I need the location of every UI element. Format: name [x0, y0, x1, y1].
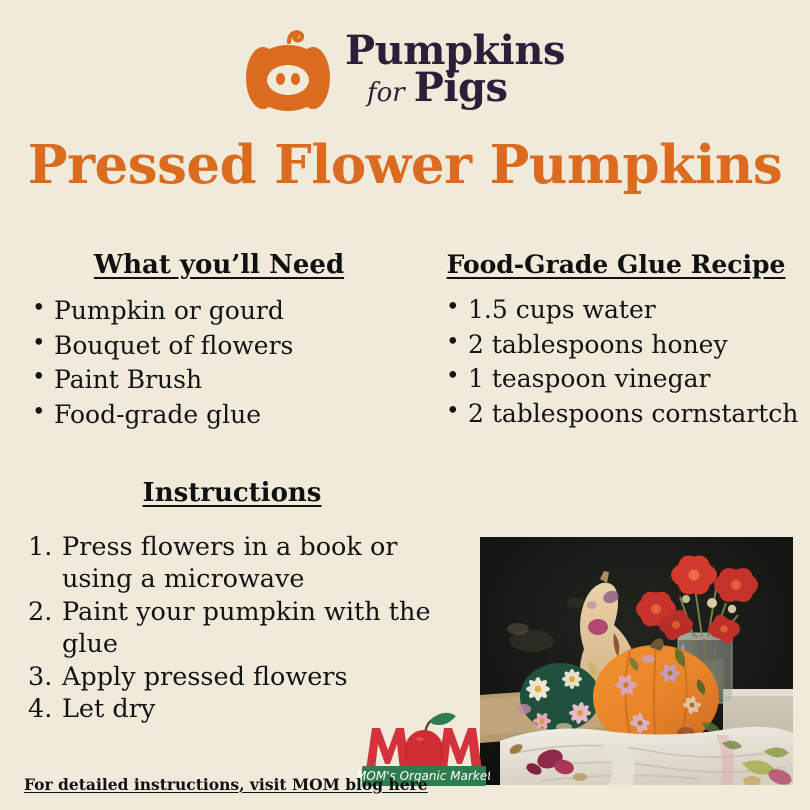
- step-text: Let dry: [62, 694, 155, 724]
- what-you-need-list: Pumpkin or gourd Bouquet of flowers Pain…: [18, 294, 420, 432]
- step-number: 3.: [28, 662, 60, 694]
- list-item: 2 tablespoons honey: [438, 328, 810, 363]
- step-number: 4.: [28, 694, 60, 726]
- glue-recipe-list: 1.5 cups water 2 tablespoons honey 1 tea…: [422, 293, 810, 431]
- list-item: Food-grade glue: [24, 398, 420, 433]
- step-text: Apply pressed flowers: [62, 662, 348, 692]
- glue-recipe-section: Food-Grade Glue Recipe 1.5 cups water 2 …: [420, 250, 810, 432]
- supplies-columns: What you’ll Need Pumpkin or gourd Bouque…: [0, 250, 810, 432]
- brand-word-for: for: [367, 82, 405, 106]
- list-item: Pumpkin or gourd: [24, 294, 420, 329]
- step-text: Press flowers in a book or using a micro…: [62, 532, 398, 594]
- instructions-list: 1.Press flowers in a book or using a mic…: [28, 532, 438, 727]
- list-item: 1.Press flowers in a book or using a mic…: [28, 532, 438, 596]
- instructions-heading: Instructions: [22, 478, 442, 508]
- pressed-flower-pumpkin-photo: [480, 537, 793, 785]
- list-item: 3.Apply pressed flowers: [28, 662, 438, 694]
- brand-line-pigs: Pigs: [414, 70, 508, 107]
- brand-wordmark: Pumpkins for Pigs: [345, 33, 565, 107]
- step-number: 1.: [28, 532, 60, 564]
- glue-recipe-heading: Food-Grade Glue Recipe: [422, 250, 810, 279]
- step-text: Paint your pumpkin with the glue: [62, 597, 431, 659]
- list-item: 1 teaspoon vinegar: [438, 362, 810, 397]
- page-title: Pressed Flower Pumpkins: [0, 134, 810, 196]
- pumpkin-pig-logo-icon: [245, 26, 331, 114]
- apple-leaf: [430, 713, 456, 725]
- blog-link[interactable]: For detailed instructions, visit MOM blo…: [24, 775, 428, 794]
- list-item: 2.Paint your pumpkin with the glue: [28, 597, 438, 661]
- step-number: 2.: [28, 597, 60, 629]
- list-item: Paint Brush: [24, 363, 420, 398]
- list-item: Bouquet of flowers: [24, 329, 420, 364]
- list-item: 1.5 cups water: [438, 293, 810, 328]
- what-you-need-section: What you’ll Need Pumpkin or gourd Bouque…: [0, 250, 420, 432]
- list-item: 2 tablespoons cornstartch: [438, 397, 810, 432]
- what-you-need-heading: What you’ll Need: [18, 250, 420, 280]
- brand-logo[interactable]: Pumpkins for Pigs: [0, 22, 810, 117]
